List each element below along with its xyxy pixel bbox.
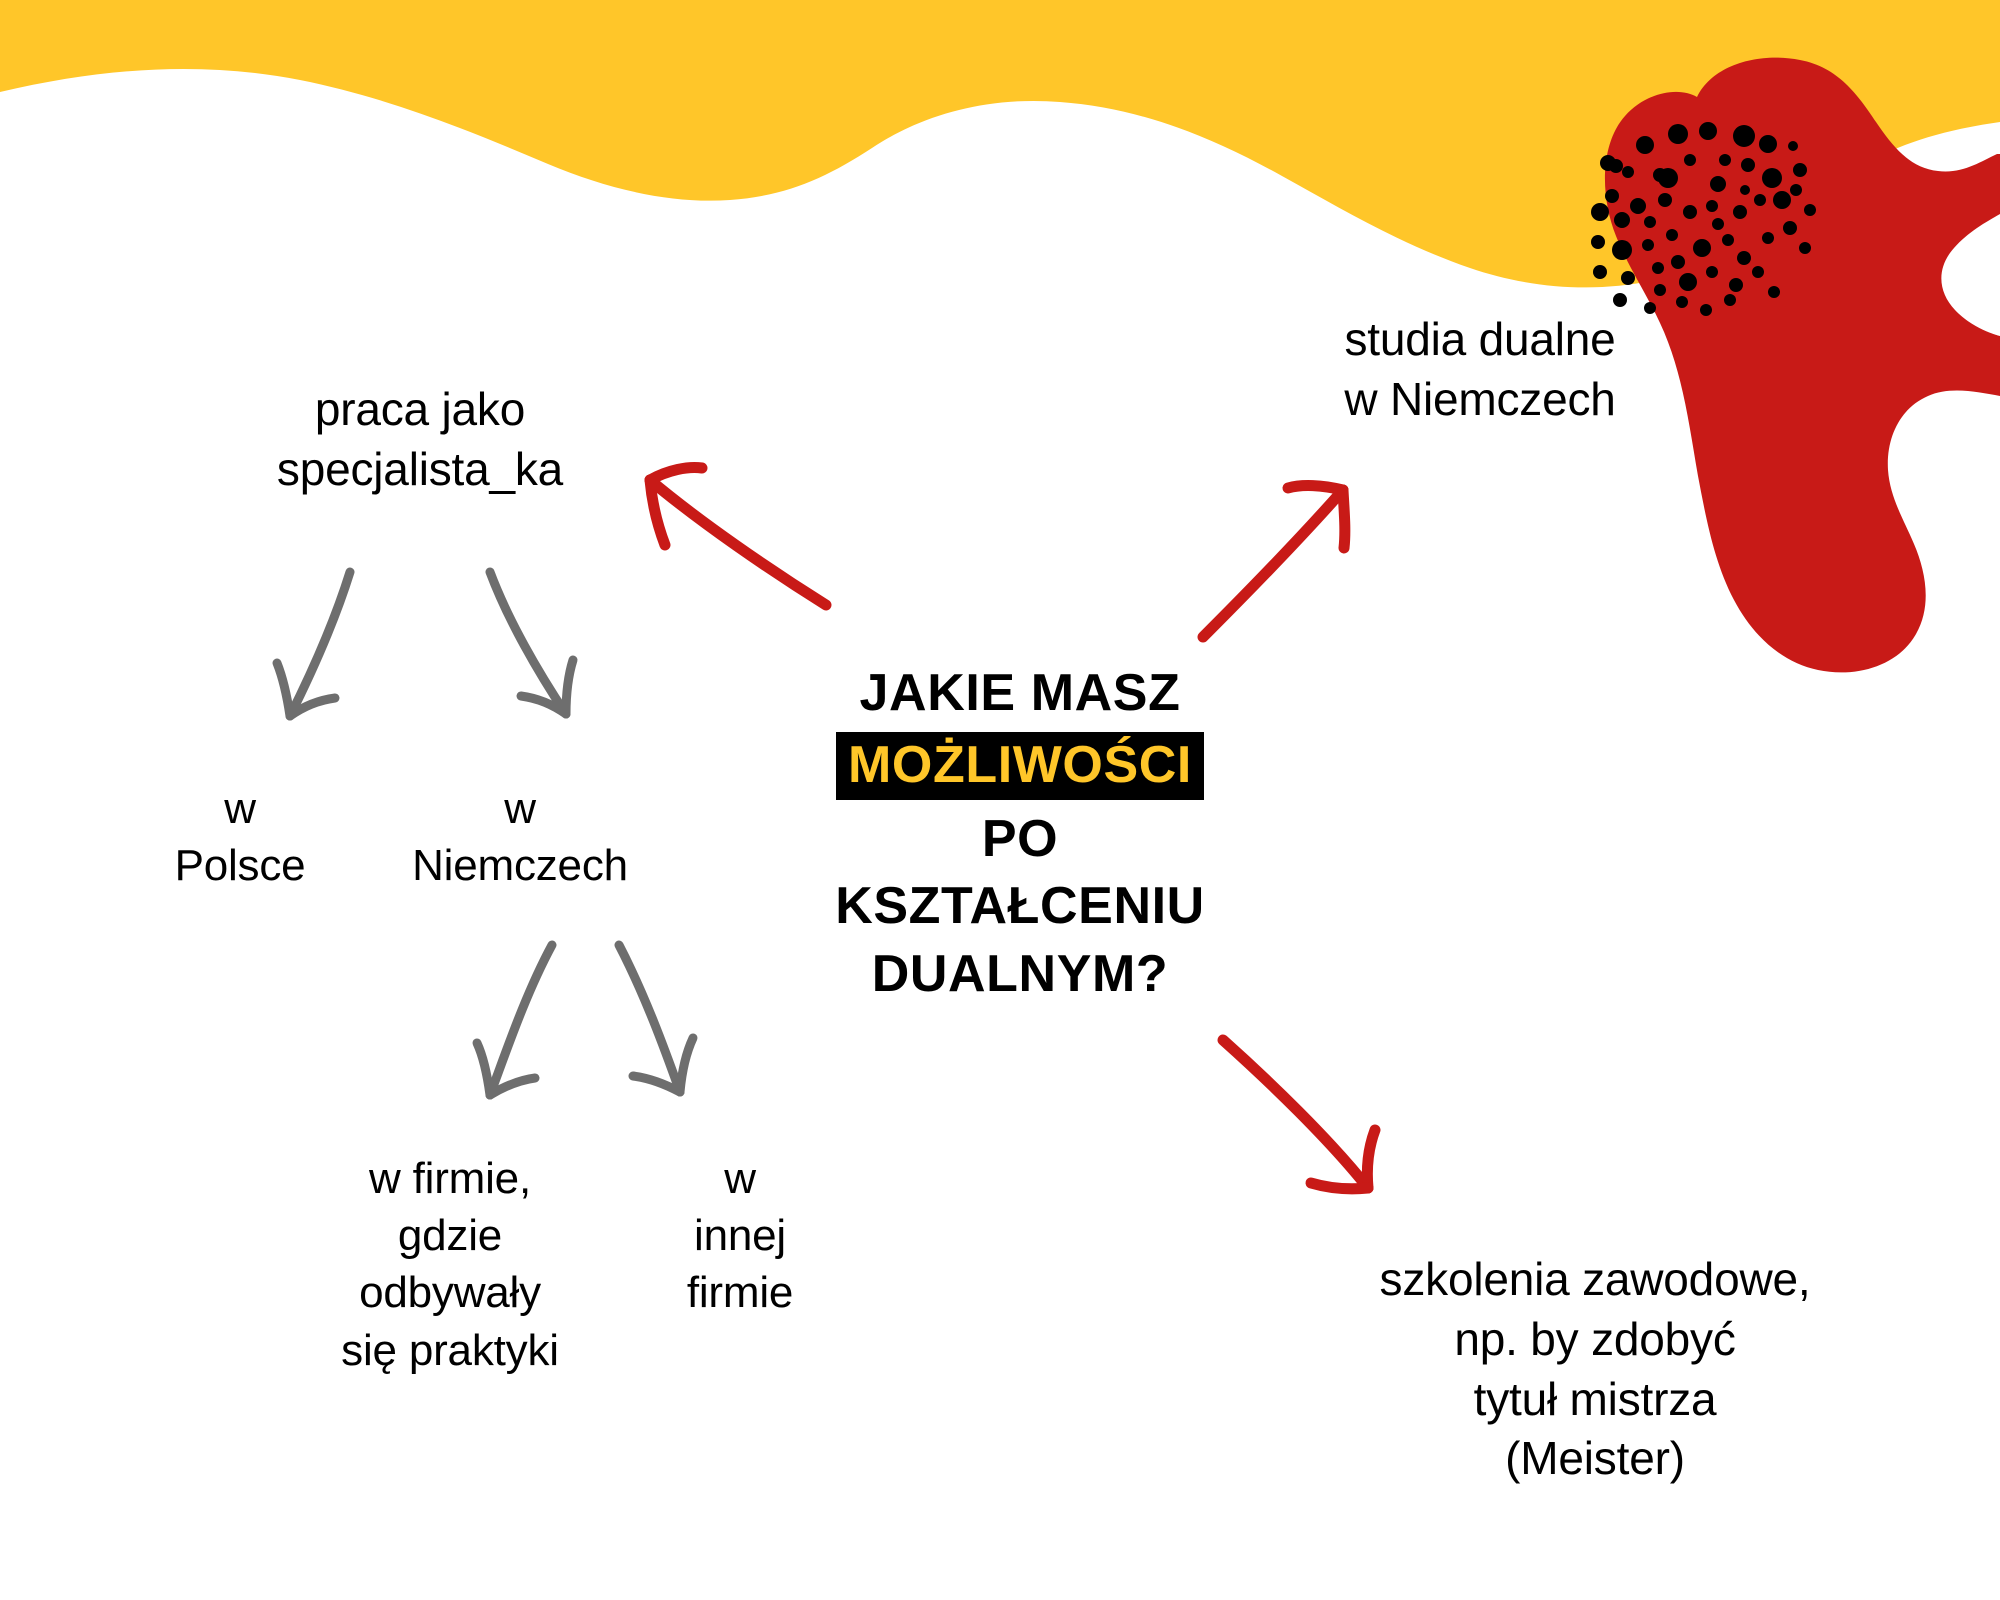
halftone-dot (1710, 176, 1726, 192)
halftone-dot (1621, 271, 1635, 285)
halftone-dot (1658, 193, 1672, 207)
halftone-dot (1759, 135, 1777, 153)
gray-arrow-work-to-germany (490, 572, 573, 714)
headline-line-3: PO (760, 806, 1280, 874)
node-other-firm: w innej firmie (630, 1150, 850, 1322)
halftone-dot (1600, 155, 1616, 171)
gray-arrow-germany-to-other-firm (619, 945, 693, 1092)
halftone-dot (1683, 205, 1697, 219)
halftone-dot (1679, 273, 1697, 291)
halftone-dot (1699, 122, 1717, 140)
yellow-wave-shape (0, 0, 2000, 287)
headline-line-4: KSZTAŁCENIU (760, 873, 1280, 941)
headline-line-5: DUALNYM? (760, 941, 1280, 1009)
halftone-dot (1654, 284, 1666, 296)
halftone-dot (1613, 293, 1627, 307)
headline-highlight: MOŻLIWOŚCI (836, 732, 1204, 800)
halftone-dot (1605, 189, 1619, 203)
halftone-dot (1693, 239, 1711, 257)
halftone-dot (1788, 141, 1798, 151)
halftone-dot (1790, 184, 1802, 196)
node-work-as-specialist: praca jako specjalista_ka (170, 380, 670, 500)
halftone-dot (1671, 255, 1685, 269)
halftone-dot (1706, 266, 1718, 278)
node-same-firm-internship: w firmie, gdzie odbywały się praktyki (290, 1150, 610, 1379)
halftone-dot (1752, 266, 1764, 278)
halftone-dot (1612, 240, 1632, 260)
halftone-dot (1762, 232, 1774, 244)
halftone-dot (1799, 242, 1811, 254)
red-arrow-to-work (650, 468, 826, 606)
red-arrow-to-studies (1203, 486, 1345, 637)
halftone-dot (1733, 125, 1755, 147)
halftone-dot (1740, 185, 1750, 195)
halftone-dot (1783, 221, 1797, 235)
halftone-dot (1644, 216, 1656, 228)
halftone-dot (1737, 251, 1751, 265)
halftone-dot (1614, 212, 1630, 228)
node-in-poland: w Polsce (110, 780, 370, 894)
halftone-dot (1684, 154, 1696, 166)
halftone-dot (1591, 235, 1605, 249)
halftone-dot (1593, 265, 1607, 279)
red-arrow-to-training (1223, 1040, 1375, 1189)
halftone-dot (1754, 194, 1766, 206)
halftone-dot (1762, 168, 1782, 188)
halftone-dot (1712, 218, 1724, 230)
halftone-dot (1658, 168, 1678, 188)
halftone-dot (1666, 229, 1678, 241)
gray-arrow-work-to-poland (277, 572, 350, 716)
halftone-dot (1719, 154, 1731, 166)
halftone-dot (1768, 286, 1780, 298)
halftone-dot (1676, 296, 1688, 308)
halftone-dot (1804, 204, 1816, 216)
headline-line-1: JAKIE MASZ (760, 660, 1280, 728)
halftone-dot (1733, 205, 1747, 219)
halftone-dot (1636, 136, 1654, 154)
halftone-dot (1622, 166, 1634, 178)
node-dual-studies-germany: studia dualne w Niemczech (1250, 310, 1710, 430)
gray-arrow-germany-to-same-firm (477, 945, 552, 1095)
halftone-dot (1793, 163, 1807, 177)
halftone-dot (1741, 158, 1755, 172)
halftone-dot (1630, 198, 1646, 214)
node-vocational-training: szkolenia zawodowe, np. by zdobyć tytuł … (1290, 1250, 1900, 1489)
halftone-dot (1729, 278, 1743, 292)
halftone-dot (1722, 234, 1734, 246)
halftone-dot (1724, 294, 1736, 306)
node-in-germany: w Niemczech (355, 780, 685, 894)
halftone-dot (1652, 262, 1664, 274)
halftone-dot (1642, 239, 1654, 251)
halftone-dot (1591, 203, 1609, 221)
halftone-dot (1653, 168, 1667, 182)
halftone-dot (1609, 159, 1623, 173)
page-title: JAKIE MASZ MOŻLIWOŚCI PO KSZTAŁCENIU DUA… (760, 660, 1280, 1008)
infographic-poster: praca jako specjalista_ka w Polsce w Nie… (0, 0, 2000, 1600)
halftone-dot (1773, 191, 1791, 209)
halftone-dot (1668, 124, 1688, 144)
halftone-dot (1706, 200, 1718, 212)
